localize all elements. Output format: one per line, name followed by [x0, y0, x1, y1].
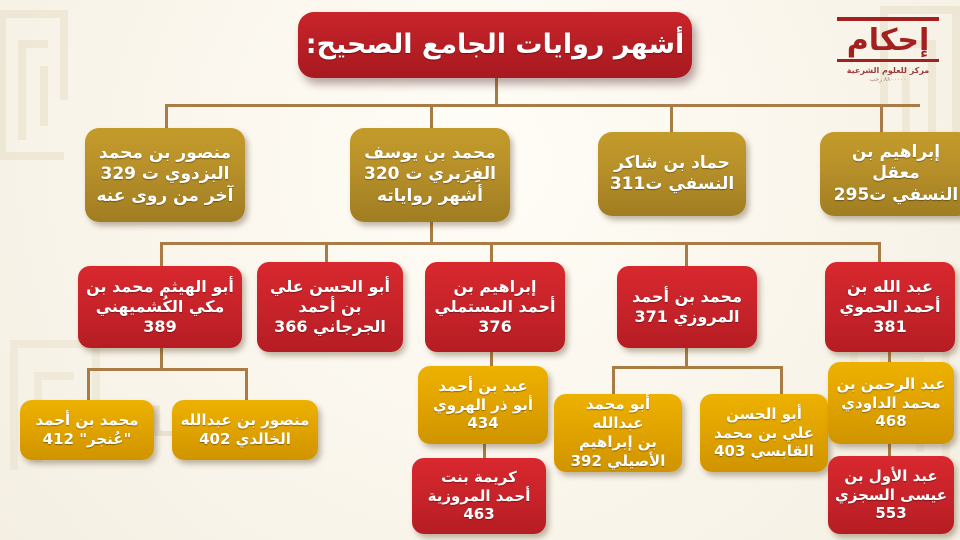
- connector-stem-kushmihani: [160, 348, 163, 368]
- node-ibrahim-ibn-ahmad-al-mustamli[interactable]: إبراهيم بن أحمد المستملي 376: [425, 262, 565, 352]
- connector-level3-bus-left: [87, 368, 247, 371]
- node-abu-al-hasan-al-qabisi[interactable]: أبو الحسن علي بن محمد القابسي 403: [700, 394, 828, 472]
- node-ibrahim-ibn-maqil-al-nasafi[interactable]: إبراهيم بن معقل النسفي ت295: [820, 132, 960, 216]
- node-abd-ibn-ahmad-abu-dharr-al-harawi[interactable]: عبد بن أحمد أبو ذر الهروي 434: [418, 366, 548, 444]
- connector-drop-l3-2: [245, 368, 248, 400]
- node-hammad-ibn-shakir-al-nasafi[interactable]: حماد بن شاكر النسفي ت311: [598, 132, 746, 216]
- node-abdullah-ibn-ahmad-al-hamawi[interactable]: عبد الله بن أحمد الحموي 381: [825, 262, 955, 352]
- connector-drop-l2-5: [878, 242, 881, 262]
- node-abd-al-rahman-al-dawudi[interactable]: عبد الرحمن بن محمد الداودي 468: [828, 362, 954, 444]
- connector-level1-bus: [165, 104, 920, 107]
- node-abd-al-awwal-al-sijzi[interactable]: عبد الأول بن عيسى السجزي 553: [828, 456, 954, 534]
- connector-drop-l2-1: [160, 242, 163, 266]
- connector-drop-l1-1: [165, 104, 168, 128]
- connector-level3-bus-marwazi: [612, 366, 782, 369]
- connector-level2-bus: [160, 242, 878, 245]
- logo-subtitle: مركز للعلوم الشرعية: [847, 66, 930, 75]
- connector-drop-l2-2: [325, 242, 328, 262]
- logo-subtitle-secondary: ٨٨٠٠٠٠٠ رجب: [870, 76, 907, 83]
- connector-drop-l1-3: [670, 104, 673, 132]
- connector-root-stem: [495, 78, 498, 106]
- node-mansur-ibn-abdullah-al-khalidi[interactable]: منصور بن عبدالله الخالدي 402: [172, 400, 318, 460]
- node-karima-bint-ahmad-al-marwaziyya[interactable]: كريمة بنت أحمد المروزية 463: [412, 458, 546, 534]
- node-mansur-al-bazdawi[interactable]: منصور بن محمد البزدوي ت 329 آخر من روى ع…: [85, 128, 245, 222]
- connector-drop-l3-5: [612, 366, 615, 394]
- connector-drop-l3-6: [780, 366, 783, 394]
- connector-dawudi-to-sijzi: [888, 444, 891, 456]
- connector-abudharr-to-karima: [483, 443, 486, 459]
- connector-stem-firabri: [430, 222, 433, 242]
- diagram-canvas: الإحكـام إحكام مركز للعلوم الشرعية ٨٨٠٠٠…: [0, 0, 960, 540]
- node-abu-al-hasan-al-jurjani[interactable]: أبو الحسن علي بن أحمد الجرجاني 366: [257, 262, 403, 352]
- connector-drop-l3-1: [87, 368, 90, 400]
- connector-stem-marwazi: [685, 348, 688, 366]
- connector-drop-l2-3: [490, 242, 493, 262]
- node-abu-al-haytham-al-kushmihani[interactable]: أبو الهيثم محمد بن مكي الكُشميهني 389: [78, 266, 242, 348]
- node-muhammad-ibn-ahmad-unjur[interactable]: محمد بن أحمد "عُنجر" 412: [20, 400, 154, 460]
- logo-mark-text: إحكام: [837, 17, 940, 62]
- brand-logo: إحكام مركز للعلوم الشرعية ٨٨٠٠٠٠٠ رجب: [828, 8, 948, 92]
- connector-drop-l2-4: [685, 242, 688, 266]
- node-muhammad-ibn-yusuf-al-firabri[interactable]: محمد بن يوسف الفِرَبري ت 320 أشهر روايات…: [350, 128, 510, 222]
- connector-drop-l1-2: [430, 104, 433, 128]
- node-abu-muhammad-al-asili[interactable]: أبو محمد عبدالله بن إبراهيم الأصيلي 392: [554, 394, 682, 472]
- node-muhammad-ibn-ahmad-al-marwazi[interactable]: محمد بن أحمد المروزي 371: [617, 266, 757, 348]
- node-root-title[interactable]: أشهر روايات الجامع الصحيح:: [298, 12, 692, 78]
- connector-drop-l1-4: [880, 104, 883, 132]
